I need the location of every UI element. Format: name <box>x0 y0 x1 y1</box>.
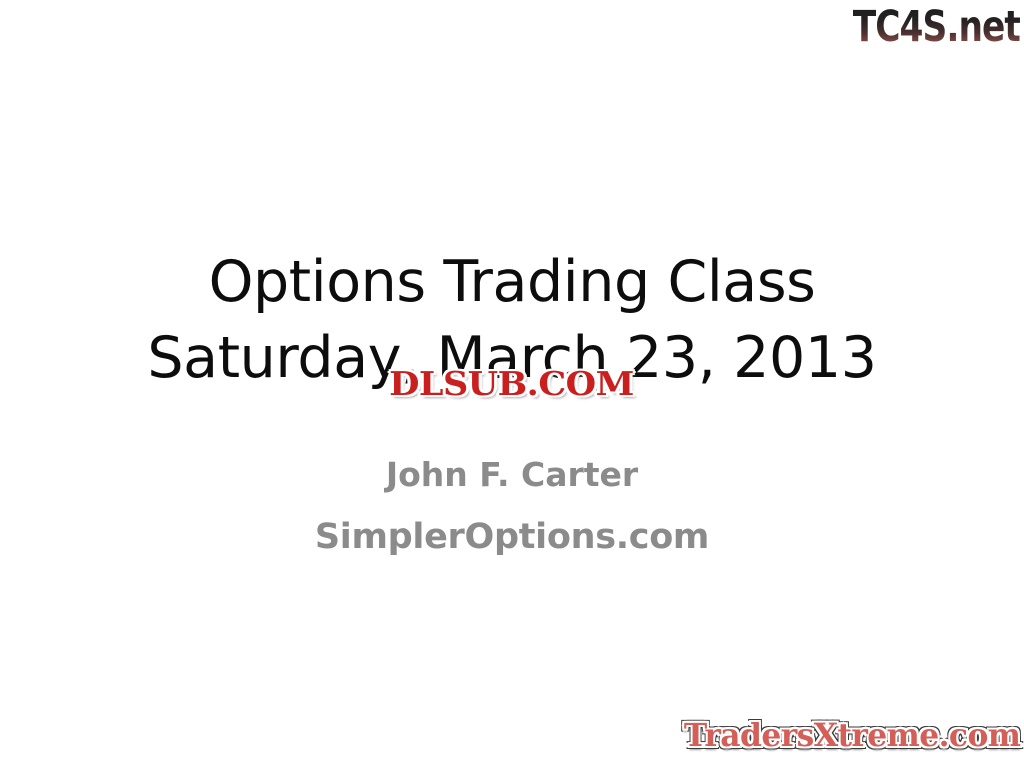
dlsub-com-watermark: DLSUB.COM <box>367 362 655 404</box>
tradersxtreme-com-logo[interactable]: TradersXtreme.com <box>676 712 1020 758</box>
title-line-1: Options Trading Class <box>0 244 1024 320</box>
slide-canvas: TC4S.net Options Trading Class Saturday,… <box>0 0 1024 768</box>
presenter-name: John F. Carter <box>0 444 1024 506</box>
tc4s-net-logo-text: TC4S.net <box>853 6 1020 49</box>
tradersxtreme-com-logo-text: TradersXtreme.com <box>683 719 1020 751</box>
presenter-website: SimplerOptions.com <box>0 506 1024 568</box>
tc4s-net-logo[interactable]: TC4S.net <box>830 2 1020 52</box>
slide-subtitle: John F. Carter SimplerOptions.com <box>0 444 1024 568</box>
dlsub-com-watermark-text: DLSUB.COM <box>389 367 634 400</box>
